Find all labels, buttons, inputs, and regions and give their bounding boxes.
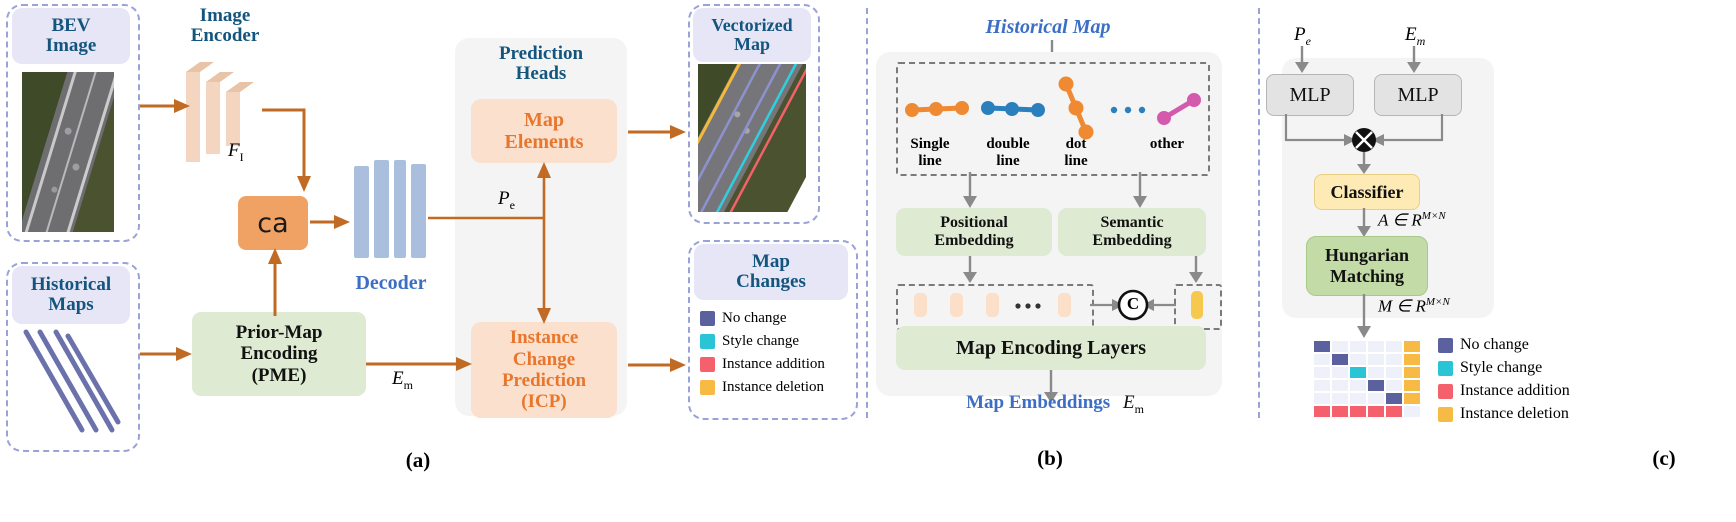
- hungarian-l1: Hungarian: [1325, 245, 1409, 265]
- arrow-semantic-to-token: [1186, 256, 1206, 284]
- line-type-other-l1: other: [1150, 136, 1184, 152]
- arrow-hungarian-to-matrix: [1354, 294, 1374, 340]
- legend-c-item-instance-addition: Instance addition: [1438, 382, 1728, 400]
- mlp-right-block[interactable]: MLP: [1374, 74, 1462, 116]
- hungarian-matching-block[interactable]: Hungarian Matching: [1306, 236, 1428, 296]
- icp-line3: Prediction: [502, 370, 586, 391]
- legend-item-instance-addition: Instance addition: [700, 356, 850, 373]
- pme-line1: Prior-Map: [236, 322, 323, 343]
- map-encoding-layers-block[interactable]: Map Encoding Layers: [896, 326, 1206, 370]
- matrix-a-sup: M×N: [1422, 210, 1446, 222]
- matrix-cell: [1331, 392, 1349, 405]
- pme-line2: Encoding: [240, 343, 317, 364]
- matrix-cell: [1367, 366, 1385, 379]
- legend-c-label-style-change: Style change: [1460, 359, 1542, 377]
- panel-divider-a-b: [866, 8, 868, 418]
- classifier-label: Classifier: [1331, 182, 1404, 203]
- matrix-cell: [1403, 379, 1421, 392]
- bev-image-thumbnail: [22, 72, 114, 232]
- matrix-cell: [1385, 405, 1403, 418]
- matrix-cell: [1367, 379, 1385, 392]
- line-type-label-other: other: [1136, 136, 1198, 153]
- vectorized-map-thumbnail: [698, 64, 806, 212]
- historical-maps-title-line2: Maps: [48, 294, 93, 315]
- legend-c-swatch-style-change: [1438, 361, 1453, 376]
- legend-label-instance-deletion: Instance deletion: [722, 379, 824, 396]
- match-matrix: [1313, 340, 1421, 418]
- legend-swatch-instance-addition: [700, 357, 715, 372]
- arrow-pme-to-icp: [366, 354, 476, 374]
- map-changes-title-line1: Map: [752, 251, 790, 272]
- arrow-pe-to-mlp-left: [1292, 46, 1312, 74]
- matrix-cell: [1403, 340, 1421, 353]
- vectorized-map-title-line1: Vectorized: [711, 15, 792, 35]
- semantic-embedding-l2: Embedding: [1092, 232, 1171, 249]
- legend-c-label-instance-deletion: Instance deletion: [1460, 405, 1569, 423]
- figure-root: BEV Image Historical Maps: [0, 0, 1736, 522]
- legend-swatch-instance-deletion: [700, 380, 715, 395]
- historical-maps-lines: [14, 326, 130, 444]
- legend-c-item-no-change: No change: [1438, 336, 1728, 354]
- map-encoding-layers-label: Map Encoding Layers: [956, 337, 1146, 359]
- image-encoder-label-line1: Image: [200, 5, 251, 26]
- line-type-label-single: Single line: [900, 136, 960, 169]
- line-type-label-dot: dot line: [1048, 136, 1104, 169]
- feature-fi-sub: I: [240, 150, 244, 164]
- arrow-to-semantic-embedding: [1130, 172, 1150, 210]
- pme-block[interactable]: Prior-Map Encoding (PME): [192, 312, 366, 396]
- line-type-double-l1: double: [986, 136, 1029, 152]
- pe-label: Pe: [498, 188, 515, 213]
- map-changes-title-line2: Changes: [736, 271, 806, 292]
- matrix-cell: [1349, 366, 1367, 379]
- arrow-encoder-to-ca: [262, 106, 314, 196]
- legend-c-swatch-instance-addition: [1438, 384, 1453, 399]
- map-changes-title: Map Changes: [694, 244, 848, 300]
- line-type-dot-l2: line: [1064, 153, 1087, 169]
- cross-attention-block[interactable]: ca: [238, 196, 308, 250]
- bev-title-line1: BEV: [51, 15, 90, 36]
- pe-sub: e: [510, 198, 515, 212]
- mlp-left-label: MLP: [1289, 84, 1330, 107]
- matrix-cell: [1349, 392, 1367, 405]
- map-embeddings-sub: m: [1135, 402, 1144, 416]
- matrix-cell: [1403, 392, 1421, 405]
- matrix-cell: [1349, 353, 1367, 366]
- concat-symbol-label: C: [1122, 294, 1144, 314]
- arrow-bev-to-encoder: [140, 96, 192, 116]
- matrix-cell: [1331, 379, 1349, 392]
- hungarian-l2: Matching: [1330, 266, 1404, 286]
- matrix-m-label: M ∈ RM×N: [1378, 296, 1450, 317]
- arrow-to-positional-embedding: [960, 172, 980, 210]
- matrix-cell: [1349, 340, 1367, 353]
- panel-divider-b-c: [1258, 8, 1260, 418]
- legend-item-style-change: Style change: [700, 333, 850, 350]
- matrix-cell: [1313, 353, 1331, 366]
- matrix-cell: [1331, 340, 1349, 353]
- prediction-heads-title-line2: Heads: [516, 63, 567, 84]
- matrix-cell: [1313, 405, 1331, 418]
- legend-item-no-change: No change: [700, 310, 850, 327]
- vectorized-map-title-line2: Map: [734, 34, 770, 54]
- map-embeddings-label: Map Embeddings: [966, 392, 1110, 413]
- matrix-cell: [1385, 392, 1403, 405]
- feature-fi-symbol: F: [228, 140, 240, 161]
- arrow-historicalmaps-to-pme: [140, 344, 194, 364]
- em-sub: m: [404, 378, 413, 392]
- legend-label-style-change: Style change: [722, 333, 799, 350]
- panel-c-letter-text: (c): [1652, 446, 1675, 470]
- multiply-node: [1266, 114, 1462, 174]
- em-label-panel-a: Em: [392, 368, 413, 393]
- matrix-cell: [1385, 379, 1403, 392]
- arrow-em-to-mlp-right: [1404, 46, 1424, 74]
- line-type-single-l2: line: [918, 153, 941, 169]
- pme-line3: (PME): [252, 365, 307, 386]
- mlp-right-label: MLP: [1397, 84, 1438, 107]
- matrix-m-text: M ∈ R: [1378, 297, 1426, 316]
- panel-b-letter: (b): [1030, 446, 1070, 471]
- panel-a-letter: (a): [398, 448, 438, 473]
- matrix-cell: [1367, 405, 1385, 418]
- arrow-classifier-to-hungarian: [1354, 208, 1374, 238]
- historical-maps-title: Historical Maps: [12, 266, 130, 324]
- matrix-cell: [1349, 379, 1367, 392]
- classifier-block[interactable]: Classifier: [1314, 174, 1420, 210]
- pe-symbol: P: [498, 188, 510, 209]
- ca-label: ca: [257, 208, 288, 239]
- matrix-cell: [1367, 340, 1385, 353]
- panel-a-letter-text: (a): [406, 448, 431, 472]
- map-changes-legend: No change Style change Instance addition…: [700, 310, 850, 396]
- legend-swatch-style-change: [700, 334, 715, 349]
- legend-item-instance-deletion: Instance deletion: [700, 379, 850, 396]
- legend-c-swatch-instance-deletion: [1438, 407, 1453, 422]
- matrix-cell: [1313, 392, 1331, 405]
- icp-block[interactable]: Instance Change Prediction (ICP): [471, 322, 617, 418]
- panel-c-legend: No change Style change Instance addition…: [1438, 336, 1728, 423]
- matrix-cell: [1385, 353, 1403, 366]
- legend-c-item-instance-deletion: Instance deletion: [1438, 405, 1728, 423]
- historical-map-header-text: Historical Map: [985, 16, 1110, 38]
- matrix-cell: [1331, 366, 1349, 379]
- matrix-cell: [1331, 353, 1349, 366]
- prediction-heads-title: Prediction Heads: [455, 44, 627, 84]
- positional-token-glyphs: [900, 288, 1086, 322]
- positional-embedding-l2: Embedding: [934, 232, 1013, 249]
- positional-embedding-l1: Positional: [940, 214, 1008, 231]
- icp-line2: Change: [513, 349, 575, 370]
- matrix-cell: [1349, 405, 1367, 418]
- prediction-heads-title-line1: Prediction: [499, 43, 583, 64]
- matrix-cell: [1403, 366, 1421, 379]
- legend-c-label-no-change: No change: [1460, 336, 1529, 354]
- positional-embedding-block[interactable]: Positional Embedding: [896, 208, 1052, 256]
- arrow-icp-to-mapchanges: [628, 355, 690, 375]
- line-type-dot-l1: dot: [1066, 136, 1087, 152]
- historical-maps-title-line1: Historical: [31, 274, 111, 295]
- historical-map-header: Historical Map: [930, 16, 1166, 39]
- map-embeddings-symbol: E: [1123, 392, 1135, 413]
- semantic-embedding-l1: Semantic: [1100, 214, 1163, 231]
- semantic-token-glyph: [1191, 291, 1203, 319]
- line-type-glyphs: [900, 70, 1200, 136]
- image-encoder-label: Image Encoder: [160, 6, 290, 46]
- line-type-label-double: double line: [976, 136, 1040, 169]
- map-elements-block[interactable]: Map Elements: [471, 99, 617, 163]
- pe-routing-arrows: [428, 160, 558, 330]
- arrow-ca-to-decoder: [310, 212, 352, 232]
- matrix-a-label: A ∈ RM×N: [1378, 210, 1446, 231]
- legend-label-instance-addition: Instance addition: [722, 356, 825, 373]
- map-embeddings-output: Map Embeddings Em: [930, 392, 1180, 417]
- matrix-cell: [1403, 405, 1421, 418]
- mlp-left-block[interactable]: MLP: [1266, 74, 1354, 116]
- line-type-double-l2: line: [996, 153, 1019, 169]
- em-input-symbol: E: [1405, 24, 1417, 45]
- icp-line4: (ICP): [521, 391, 566, 412]
- bev-title-line2: Image: [46, 35, 97, 56]
- panel-c-letter: (c): [1644, 446, 1684, 471]
- map-elements-line2: Elements: [505, 131, 584, 153]
- decoder-icon: [352, 158, 430, 266]
- matrix-m-sup: M×N: [1426, 296, 1450, 308]
- decoder-label-text: Decoder: [355, 272, 426, 294]
- matrix-cell: [1367, 392, 1385, 405]
- concat-symbol-text: C: [1127, 294, 1139, 313]
- line-type-single-l1: Single: [910, 136, 949, 152]
- matrix-cell: [1385, 340, 1403, 353]
- legend-c-item-style-change: Style change: [1438, 359, 1728, 377]
- bev-image-title: BEV Image: [12, 8, 130, 64]
- image-encoder-label-line2: Encoder: [191, 25, 260, 46]
- matrix-cell: [1313, 340, 1331, 353]
- panel-b-letter-text: (b): [1037, 446, 1063, 470]
- matrix-cell: [1385, 366, 1403, 379]
- arrow-positional-to-tokens: [960, 256, 980, 284]
- matrix-cell: [1313, 379, 1331, 392]
- feature-fi-label: FI: [228, 140, 244, 165]
- matrix-a-text: A ∈ R: [1378, 211, 1422, 230]
- matrix-cell: [1331, 405, 1349, 418]
- matrix-cell: [1367, 353, 1385, 366]
- pe-input-symbol: P: [1294, 24, 1306, 45]
- legend-c-label-instance-addition: Instance addition: [1460, 382, 1570, 400]
- map-elements-line1: Map: [524, 109, 564, 131]
- matrix-cell: [1313, 366, 1331, 379]
- vectorized-map-title: Vectorized Map: [693, 8, 811, 62]
- semantic-embedding-block[interactable]: Semantic Embedding: [1058, 208, 1206, 256]
- legend-c-swatch-no-change: [1438, 338, 1453, 353]
- arrow-mapelements-to-vectorizedmap: [628, 122, 690, 142]
- icp-line1: Instance: [510, 327, 579, 348]
- legend-label-no-change: No change: [722, 310, 787, 327]
- arrow-pme-to-ca: [264, 248, 286, 316]
- legend-swatch-no-change: [700, 311, 715, 326]
- matrix-cell: [1403, 353, 1421, 366]
- em-symbol: E: [392, 368, 404, 389]
